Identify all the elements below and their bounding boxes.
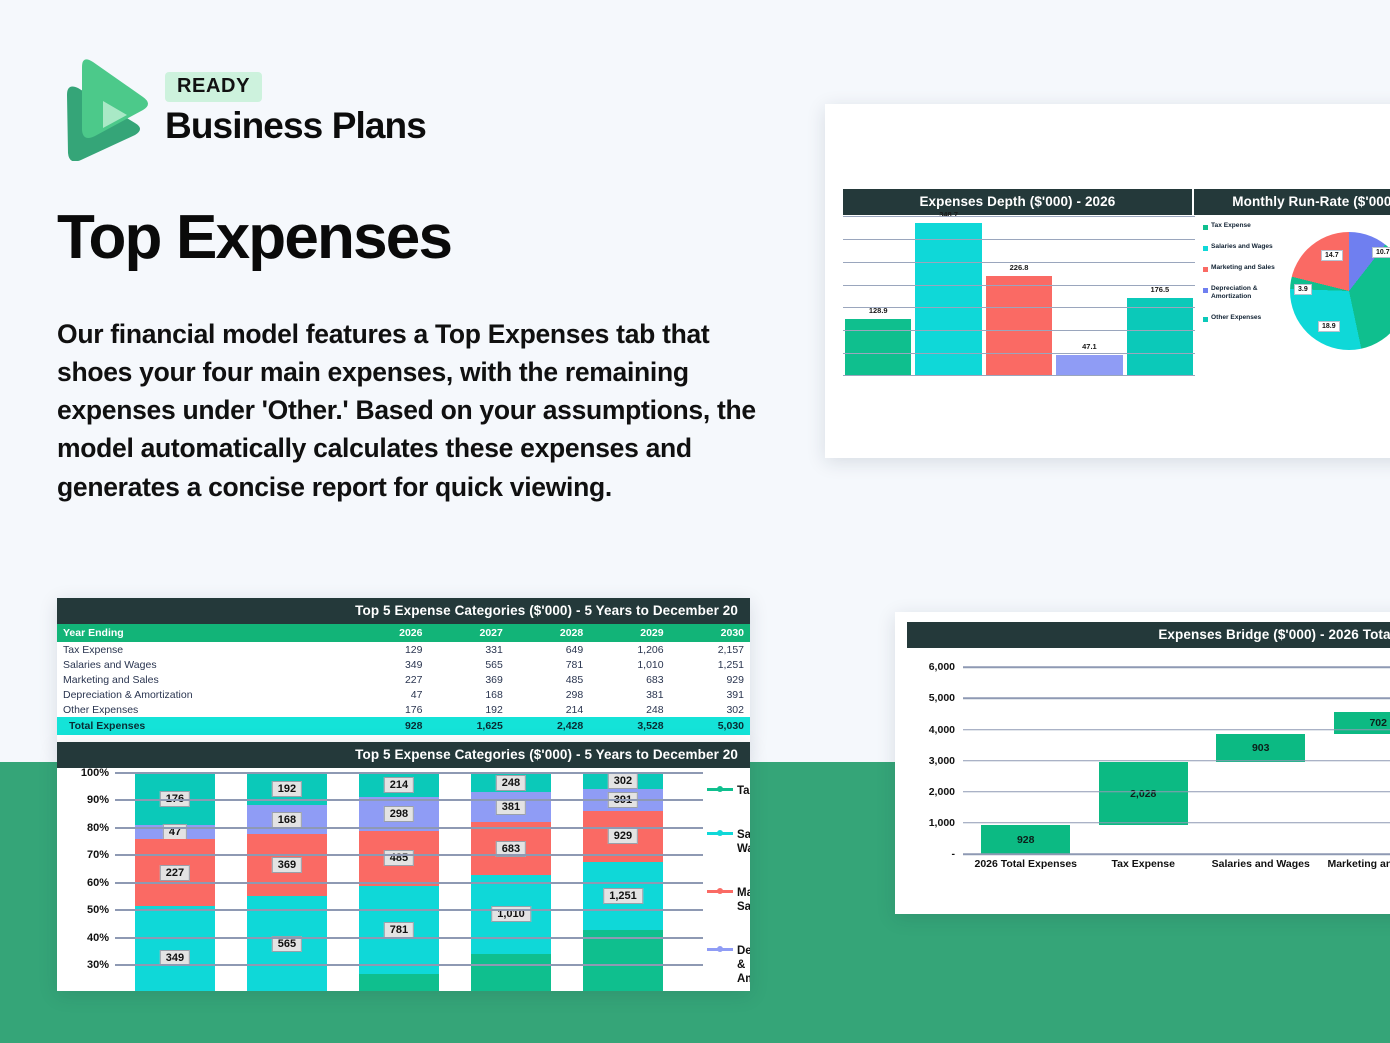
x-axis-label: 2026 Total Expenses	[967, 858, 1085, 870]
page-title: Top Expenses	[57, 205, 451, 270]
segment-value-label: 485	[384, 850, 414, 866]
segment-value-label: 369	[272, 857, 302, 873]
stacked-legend-item-1: Salaries and Wages	[707, 828, 750, 856]
stacked-legend-item-0: Tax Expense	[707, 784, 750, 798]
gridline	[843, 285, 1195, 286]
segment-value-label: 214	[384, 777, 414, 793]
table-row: Tax Expense1293316491,2062,157	[57, 642, 750, 657]
bridge-value-label: 903	[1252, 742, 1270, 754]
table-total-cell: 3,528	[589, 717, 669, 735]
table-cell: 227	[354, 672, 428, 687]
table-cell: 1,251	[670, 657, 750, 672]
stack-segment: 349	[135, 906, 216, 991]
stacked-chart-title: Top 5 Expense Categories ($'000) - 5 Yea…	[57, 742, 750, 768]
table-cell: 649	[509, 642, 589, 657]
legend-marker	[707, 944, 733, 955]
monthly-runrate-title: Monthly Run-Rate ($'000) -	[1194, 189, 1390, 215]
x-axis-label: Tax Expense	[1085, 858, 1203, 870]
stacked-column-2028: 214298485781	[343, 773, 455, 979]
table-cell: 565	[428, 657, 508, 672]
table-total-label: Total Expenses	[57, 717, 354, 735]
legend-label: Marketing and Sales	[737, 886, 750, 914]
stack-segment: 485	[359, 831, 440, 886]
gridline	[115, 882, 703, 884]
table-total-cell: 1,625	[428, 717, 508, 735]
legend-item-2: Marketing and Sales	[1203, 264, 1289, 272]
table-col-header: 2029	[589, 624, 669, 642]
bridge-bar: 2,028	[1099, 762, 1188, 825]
legend-item-4: Other Expenses	[1203, 314, 1289, 322]
axis-line	[843, 375, 1195, 376]
stacked-plot-area: 1764722734919216836956521429848578124838…	[119, 773, 679, 979]
y-tick-label: 40%	[87, 932, 109, 944]
legend-label: Salaries and Wages	[737, 828, 750, 856]
brand-name: Business Plans	[165, 107, 426, 146]
legend-label: Depreciation & Amortization	[737, 944, 750, 986]
stack-segment	[471, 954, 552, 991]
gridline	[115, 909, 703, 911]
table-col-header: Year Ending	[57, 624, 354, 642]
gridline	[963, 822, 1390, 824]
expenses-bridge-card: Expenses Bridge ($'000) - 2026 Total Exp…	[895, 612, 1390, 914]
gridline	[843, 307, 1195, 308]
legend-swatch	[1203, 288, 1208, 293]
table-cell: 298	[509, 687, 589, 702]
stack-segment: 1,010	[471, 875, 552, 954]
segment-value-label: 1,251	[603, 888, 643, 904]
expense-categories-table: Year Ending20262027202820292030 Tax Expe…	[57, 624, 750, 735]
bridge-column-1: 2,028Tax Expense	[1085, 658, 1203, 854]
gridline	[115, 937, 703, 939]
pie-label-3: 18.9	[1318, 321, 1340, 332]
stacked-legend-item-2: Marketing and Sales	[707, 886, 750, 914]
table-row-label: Tax Expense	[57, 642, 354, 657]
expenses-depth-bar-chart: 128.9348.7226.847.1176.5	[843, 216, 1195, 376]
table-row: Depreciation & Amortization4716829838139…	[57, 687, 750, 702]
bridge-value-label: 928	[1017, 834, 1035, 846]
gridline	[963, 853, 1390, 855]
x-axis-label: Salaries and Wages	[1202, 858, 1320, 870]
gridline	[963, 698, 1390, 700]
stacked-y-axis: 100%90%80%70%60%50%40%30%	[57, 773, 115, 979]
y-tick-label: 1,000	[929, 817, 955, 829]
stack-segment: 248	[471, 773, 552, 792]
table-row-label: Salaries and Wages	[57, 657, 354, 672]
gridline	[843, 239, 1195, 240]
table-row: Other Expenses176192214248302	[57, 702, 750, 717]
bridge-chart-title: Expenses Bridge ($'000) - 2026 Total Exp…	[907, 622, 1390, 648]
table-cell: 176	[354, 702, 428, 717]
stack-segment: 168	[247, 805, 328, 833]
table-cell: 2,157	[670, 642, 750, 657]
bridge-bar: 702	[1334, 712, 1390, 734]
table-total-cell: 928	[354, 717, 428, 735]
y-tick-label: 70%	[87, 849, 109, 861]
ready-badge: READY	[165, 72, 262, 102]
table-col-header: 2028	[509, 624, 589, 642]
table-cell: 391	[670, 687, 750, 702]
segment-value-label: 781	[384, 922, 414, 938]
legend-swatch	[1203, 267, 1208, 272]
table-header-row: Year Ending20262027202820292030	[57, 624, 750, 642]
y-tick-label: 6,000	[929, 661, 955, 673]
bar-value-label: 348.7	[939, 210, 958, 219]
x-axis-label: Marketing and Sales	[1320, 858, 1390, 870]
y-tick-label: 100%	[81, 767, 109, 779]
legend-label: Other Expenses	[1211, 314, 1261, 322]
stack-segment: 1,251	[583, 862, 664, 930]
table-cell: 349	[354, 657, 428, 672]
bar-fill	[1127, 298, 1193, 376]
gridline	[843, 353, 1195, 354]
bar-value-label: 176.5	[1150, 285, 1169, 294]
y-tick-label: 50%	[87, 904, 109, 916]
table-title: Top 5 Expense Categories ($'000) - 5 Yea…	[57, 598, 750, 624]
pie-label-2: 3.9	[1294, 284, 1312, 295]
bridge-plot-area: 9282026 Total Expenses2,028Tax Expense90…	[967, 658, 1390, 854]
table-total-cell: 5,030	[670, 717, 750, 735]
bridge-bar: 903	[1216, 734, 1305, 762]
bridge-value-label: 702	[1369, 717, 1387, 729]
table-cell: 129	[354, 642, 428, 657]
gridline	[115, 854, 703, 856]
table-row-label: Depreciation & Amortization	[57, 687, 354, 702]
gridline	[963, 760, 1390, 762]
y-tick-label: 5,000	[929, 692, 955, 704]
y-tick-label: -	[952, 848, 956, 860]
table-row-label: Other Expenses	[57, 702, 354, 717]
pie-label-0: 10.7	[1372, 247, 1390, 258]
table-cell: 485	[509, 672, 589, 687]
table-cell: 248	[589, 702, 669, 717]
stacked-column-2029: 2483816831,010	[455, 773, 567, 979]
stacked-chart-legend: Tax ExpenseSalaries and WagesMarketing a…	[707, 784, 750, 991]
stack-segment: 302	[583, 773, 664, 789]
table-cell: 214	[509, 702, 589, 717]
stack-segment: 227	[135, 839, 216, 906]
table-col-header: 2027	[428, 624, 508, 642]
legend-label: Marketing and Sales	[1211, 264, 1275, 272]
gridline	[115, 799, 703, 801]
segment-value-label: 192	[272, 781, 302, 797]
segment-value-label: 929	[608, 828, 638, 844]
gridline	[963, 667, 1390, 669]
expenses-depth-legend: Tax ExpenseSalaries and WagesMarketing a…	[1203, 222, 1289, 335]
legend-label: Tax Expense	[1211, 222, 1251, 230]
table-total-cell: 2,428	[509, 717, 589, 735]
stacked-column-2026: 17647227349	[119, 773, 231, 979]
segment-value-label: 302	[608, 773, 638, 789]
bridge-y-axis: 6,0005,0004,0003,0002,0001,000-	[895, 658, 963, 854]
legend-item-1: Salaries and Wages	[1203, 243, 1289, 251]
stacked-column-2027: 192168369565	[231, 773, 343, 979]
stack-segment: 781	[359, 886, 440, 974]
legend-swatch	[1203, 225, 1208, 230]
y-tick-label: 4,000	[929, 724, 955, 736]
y-tick-label: 90%	[87, 794, 109, 806]
segment-value-label: 168	[272, 812, 302, 828]
stack-segment: 369	[247, 834, 328, 896]
gridline	[843, 216, 1195, 217]
table-cell: 192	[428, 702, 508, 717]
legend-item-0: Tax Expense	[1203, 222, 1289, 230]
bar-3: 47.1	[1056, 355, 1122, 376]
bar-fill	[845, 319, 911, 376]
bridge-column-0: 9282026 Total Expenses	[967, 658, 1085, 854]
legend-label: Depreciation & Amortization	[1211, 285, 1289, 301]
stack-segment: 683	[471, 822, 552, 875]
table-cell: 929	[670, 672, 750, 687]
table-cell: 1,010	[589, 657, 669, 672]
segment-value-label: 381	[496, 799, 526, 815]
legend-label: Tax Expense	[737, 784, 750, 798]
expense-categories-stacked-card: Top 5 Expense Categories ($'000) - 5 Yea…	[57, 742, 750, 991]
bar-2: 226.8	[986, 276, 1052, 376]
gridline	[115, 827, 703, 829]
table-cell: 1,206	[589, 642, 669, 657]
table-cell: 369	[428, 672, 508, 687]
legend-swatch	[1203, 317, 1208, 322]
stack-segment: 381	[471, 792, 552, 822]
bridge-value-label: 2,028	[1130, 788, 1156, 800]
y-tick-label: 3,000	[929, 755, 955, 767]
stack-segment: 298	[359, 797, 440, 831]
table-total-row: Total Expenses9281,6252,4283,5285,030	[57, 717, 750, 735]
table-cell: 683	[589, 672, 669, 687]
segment-value-label: 248	[496, 775, 526, 791]
legend-item-3: Depreciation & Amortization	[1203, 285, 1289, 301]
gridline	[963, 729, 1390, 731]
table-row: Salaries and Wages3495657811,0101,251	[57, 657, 750, 672]
legend-label: Salaries and Wages	[1211, 243, 1273, 251]
y-tick-label: 80%	[87, 822, 109, 834]
bar-fill	[986, 276, 1052, 376]
table-cell: 781	[509, 657, 589, 672]
table-cell: 331	[428, 642, 508, 657]
stack-segment	[583, 930, 664, 991]
bridge-bar: 928	[981, 825, 1070, 854]
gridline	[963, 791, 1390, 793]
gridline	[115, 772, 703, 774]
stacked-column-2030: 3023919291,251	[567, 773, 679, 979]
bar-fill	[1056, 355, 1122, 376]
bridge-column-2: 903Salaries and Wages	[1202, 658, 1320, 854]
play-triangle-logo-icon	[57, 57, 149, 161]
table-row: Marketing and Sales227369485683929	[57, 672, 750, 687]
table-cell: 381	[589, 687, 669, 702]
legend-swatch	[1203, 246, 1208, 251]
gridline	[843, 262, 1195, 263]
table-row-label: Marketing and Sales	[57, 672, 354, 687]
legend-marker	[707, 784, 733, 795]
table-cell: 302	[670, 702, 750, 717]
expense-categories-table-card: Top 5 Expense Categories ($'000) - 5 Yea…	[57, 598, 750, 744]
bar-4: 176.5	[1127, 298, 1193, 376]
segment-value-label: 298	[384, 806, 414, 822]
y-tick-label: 2,000	[929, 786, 955, 798]
y-tick-label: 30%	[87, 959, 109, 971]
pie-label-1: 14.7	[1321, 250, 1343, 261]
y-tick-label: 60%	[87, 877, 109, 889]
table-col-header: 2030	[670, 624, 750, 642]
brand-logo: READY Business Plans	[57, 57, 426, 161]
expenses-depth-card: Expenses Depth ($'000) - 2026 Monthly Ru…	[825, 104, 1390, 458]
legend-marker	[707, 828, 733, 839]
legend-marker	[707, 886, 733, 897]
table-cell: 168	[428, 687, 508, 702]
table-col-header: 2026	[354, 624, 428, 642]
bridge-column-3: 702Marketing and Sales	[1320, 658, 1390, 854]
bar-value-label: 47.1	[1082, 342, 1097, 351]
table-cell: 47	[354, 687, 428, 702]
stacked-legend-item-3: Depreciation & Amortization	[707, 944, 750, 986]
segment-value-label: 227	[160, 865, 190, 881]
bar-0: 128.9	[845, 319, 911, 376]
stack-segment: 214	[359, 773, 440, 797]
page-description: Our financial model features a Top Expen…	[57, 315, 757, 506]
bar-value-label: 226.8	[1010, 263, 1029, 272]
expenses-depth-title: Expenses Depth ($'000) - 2026	[843, 189, 1194, 215]
gridline	[843, 330, 1195, 331]
stack-segment	[359, 974, 440, 991]
gridline	[115, 964, 703, 966]
